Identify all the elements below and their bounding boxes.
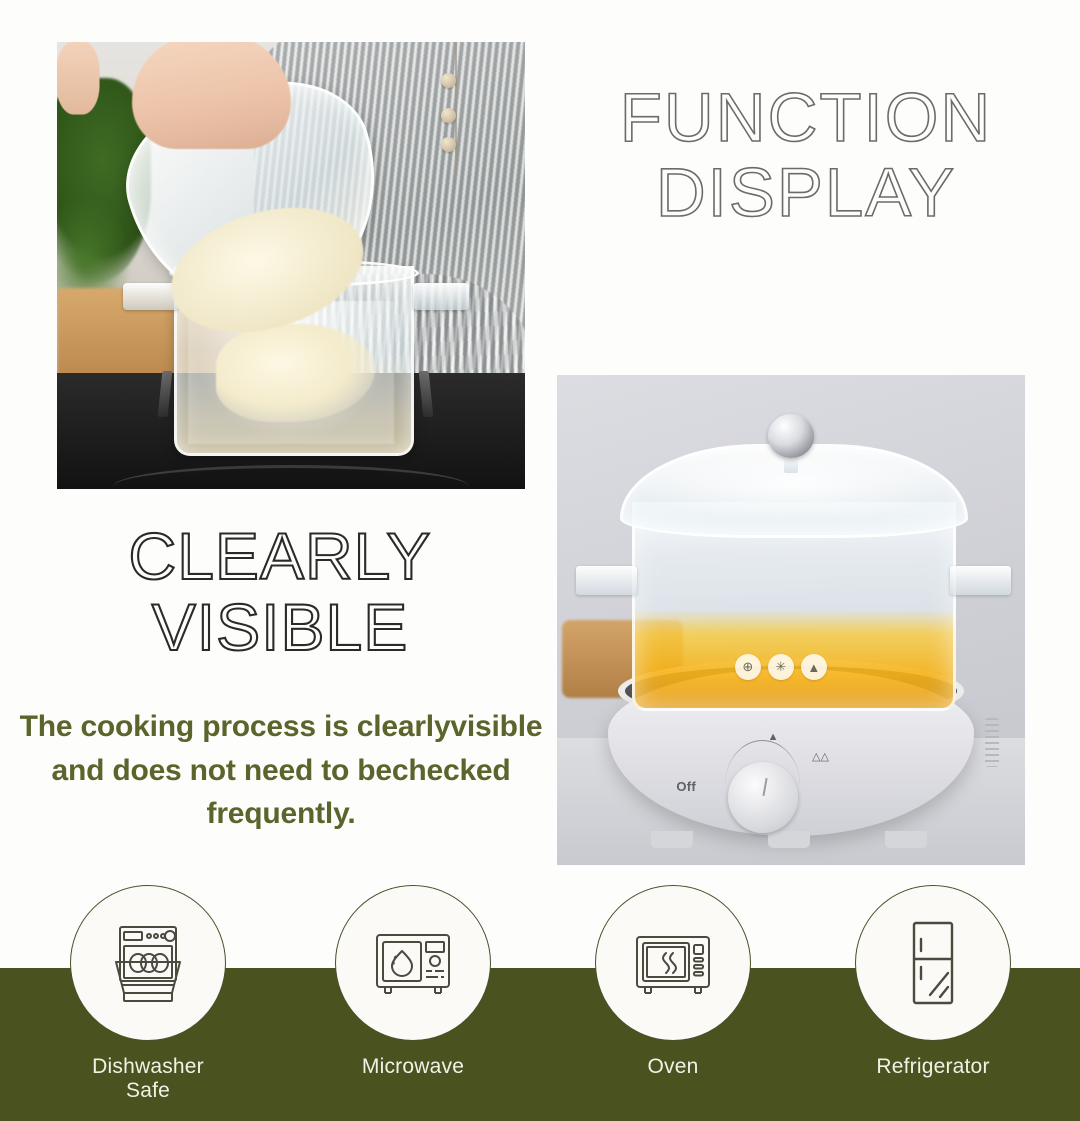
- flame-high-icon: △△: [812, 750, 829, 763]
- feature-label: Oven: [593, 1055, 753, 1079]
- feature-refrigerator: Refrigerator: [853, 885, 1013, 1079]
- hot-plate-vents: [985, 718, 999, 767]
- hot-plate-foot: [768, 831, 810, 848]
- feature-circle: [70, 885, 226, 1041]
- oven-icon: [625, 915, 721, 1011]
- product-infographic: FUNCTION DISPLAY CLEARLY VISIBLE The coo…: [0, 0, 1080, 1121]
- hot-plate-foot: [885, 831, 927, 848]
- hot-plate-control-knob[interactable]: [728, 762, 798, 833]
- wooden-beads: [441, 60, 464, 221]
- dishwasher-icon: [100, 915, 196, 1011]
- pot-handle-right: [950, 566, 1011, 595]
- feature-circle: [595, 885, 751, 1041]
- refrigerator-icon: [885, 915, 981, 1011]
- function-display-heading: FUNCTION DISPLAY: [556, 82, 1056, 228]
- microwave-icon: [365, 915, 461, 1011]
- clearly-visible-line1: CLEARLY: [10, 522, 550, 591]
- snowflake-icon: ✳: [768, 654, 794, 680]
- function-display-line2: DISPLAY: [556, 157, 1056, 228]
- feature-dishwasher-safe: Dishwasher Safe: [68, 885, 228, 1103]
- hot-plate-off-label: Off: [676, 779, 696, 794]
- feature-circle: [335, 885, 491, 1041]
- flame-icon: ▲: [801, 654, 827, 680]
- feature-label: Refrigerator: [853, 1055, 1013, 1079]
- feature-oven: Oven: [593, 885, 753, 1079]
- flame-low-icon: ▲: [768, 731, 779, 743]
- pot-feature-badges: ⊕ ✳ ▲: [735, 654, 827, 680]
- hand: [132, 42, 291, 149]
- clearly-visible-line2: VISIBLE: [10, 593, 550, 662]
- hotplate-photo: ▲ △△ Off ⊕ ✳ ▲: [557, 375, 1025, 865]
- clearly-visible-paragraph: The cooking process is clearlyvisible an…: [8, 705, 554, 836]
- pot-handle-left: [576, 566, 637, 595]
- function-display-line1: FUNCTION: [556, 82, 1056, 153]
- pouring-photo: [57, 42, 525, 489]
- feature-list: Dishwasher Safe: [0, 885, 1080, 1121]
- feature-label: Dishwasher Safe: [68, 1055, 228, 1103]
- hot-plate-foot: [651, 831, 693, 848]
- pot-handle-right: [413, 283, 469, 310]
- clearly-visible-heading: CLEARLY VISIBLE: [10, 522, 550, 663]
- induction-icon: ⊕: [735, 654, 761, 680]
- feature-label: Microwave: [333, 1055, 493, 1079]
- stove-grate: [113, 465, 469, 487]
- finger: [57, 42, 99, 114]
- feature-circle: [855, 885, 1011, 1041]
- feature-microwave: Microwave: [333, 885, 493, 1079]
